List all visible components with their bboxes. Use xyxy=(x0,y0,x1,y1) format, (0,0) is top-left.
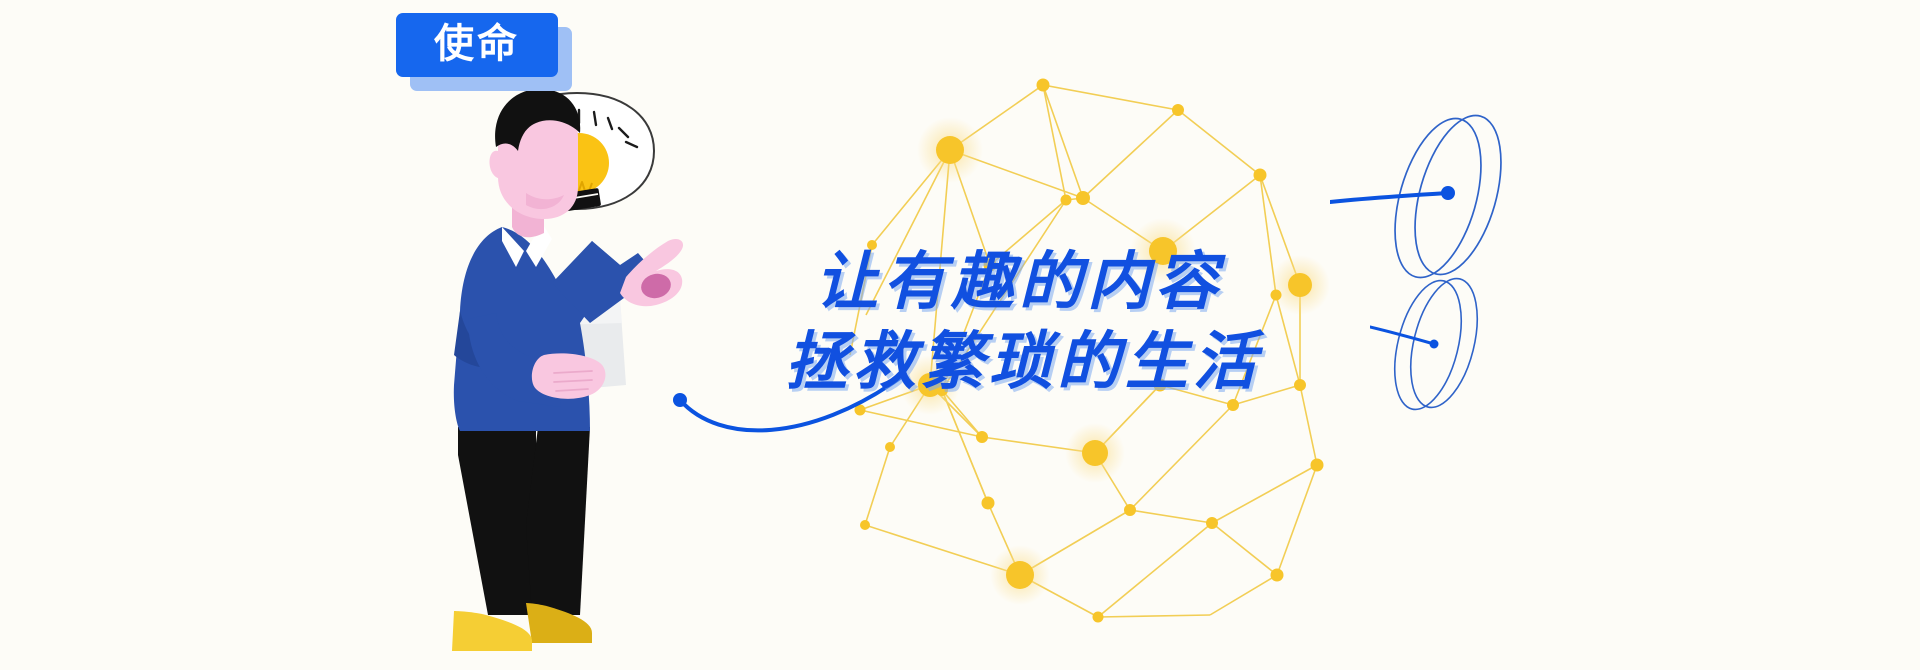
badge-label: 使命 xyxy=(434,24,520,66)
mission-banner: 使命 让有趣的内容 拯救繁琐的生活 xyxy=(0,0,1920,670)
mission-badge: 使命 xyxy=(396,13,572,91)
headline-line-2: 拯救繁琐的生活 xyxy=(785,322,1555,402)
badge-face: 使命 xyxy=(396,13,558,77)
orbit-center-dot xyxy=(1441,186,1455,200)
headline-line-1: 让有趣的内容 xyxy=(815,242,1555,322)
man-pointing-illustration xyxy=(440,55,720,670)
head xyxy=(489,89,580,219)
trousers xyxy=(458,427,590,615)
headline: 让有趣的内容 拯救繁琐的生活 xyxy=(815,242,1555,402)
